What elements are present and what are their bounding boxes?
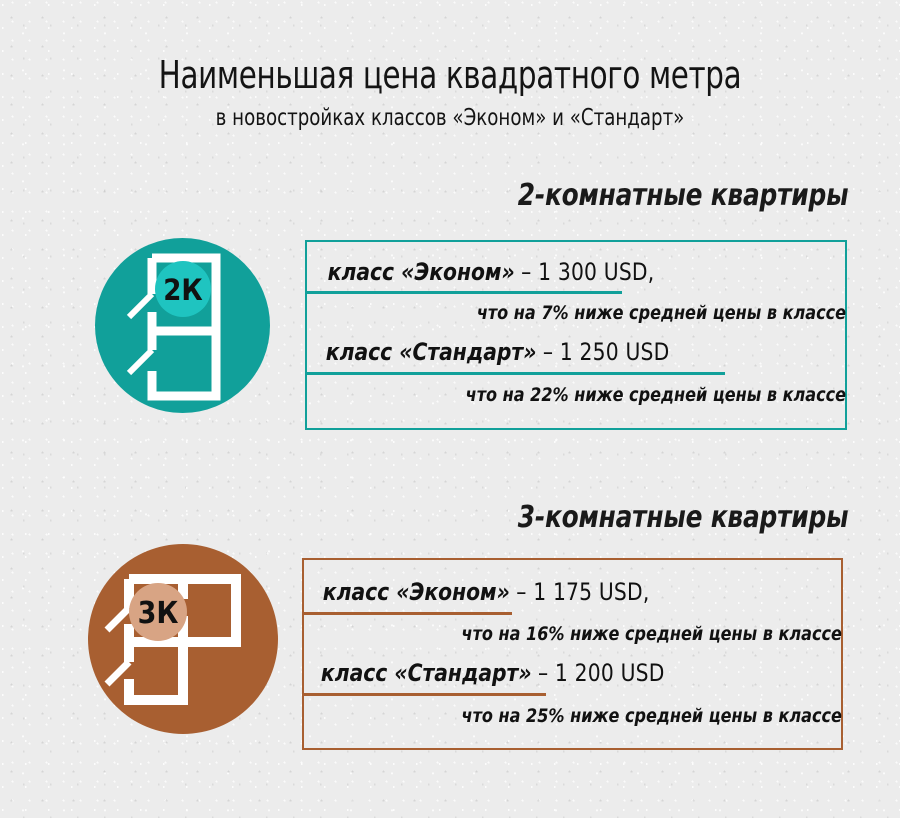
- class-label: класс «Стандарт»: [321, 659, 532, 687]
- floorplan-2-rooms-icon: 2К: [95, 238, 270, 413]
- section-heading-2k: 2-комнатные квартиры: [517, 178, 848, 213]
- badge-label-3k: 3К: [138, 596, 179, 631]
- underline-standart-2k: [307, 372, 725, 375]
- underline-standart-3k: [304, 693, 546, 696]
- badge-label-2k: 2К: [163, 273, 202, 307]
- header: Наименьшая цена квадратного метра в ново…: [0, 52, 900, 133]
- floorplan-3-rooms-icon: 3К: [88, 544, 278, 734]
- class-price: – 1 175 USD,: [516, 578, 649, 606]
- info-box-3k: класс «Эконом» – 1 175 USD, что на 16% н…: [302, 558, 843, 750]
- row-note-standart-3k: что на 25% ниже средней цены в классе: [337, 705, 857, 727]
- underline-econom-3k: [304, 612, 512, 615]
- row-note-econom-3k: что на 16% ниже средней цены в классе: [337, 623, 857, 645]
- row-class-standart-2k: класс «Стандарт» – 1 250 USD: [307, 338, 832, 366]
- page-title: Наименьшая цена квадратного метра: [63, 52, 837, 98]
- row-note-econom-2k: что на 7% ниже средней цены в классе: [340, 302, 863, 324]
- class-price: – 1 250 USD: [543, 338, 670, 366]
- class-label: класс «Эконом»: [328, 258, 515, 286]
- class-price: – 1 200 USD: [538, 659, 665, 687]
- info-box-2k: класс «Эконом» – 1 300 USD, что на 7% ни…: [305, 240, 847, 430]
- class-label: класс «Стандарт»: [326, 338, 537, 366]
- underline-econom-2k: [307, 291, 622, 294]
- row-note-standart-2k: что на 22% ниже средней цены в классе: [340, 384, 863, 406]
- row-class-econom-2k: класс «Эконом» – 1 300 USD,: [307, 258, 833, 286]
- class-label: класс «Эконом»: [323, 578, 510, 606]
- page-subtitle: в новостройках классов «Эконом» и «Станд…: [54, 103, 846, 133]
- class-price: – 1 300 USD,: [521, 258, 654, 286]
- row-class-standart-3k: класс «Стандарт» – 1 200 USD: [304, 659, 826, 687]
- section-heading-3k: 3-комнатные квартиры: [517, 500, 848, 535]
- row-class-econom-3k: класс «Эконом» – 1 175 USD,: [304, 578, 828, 606]
